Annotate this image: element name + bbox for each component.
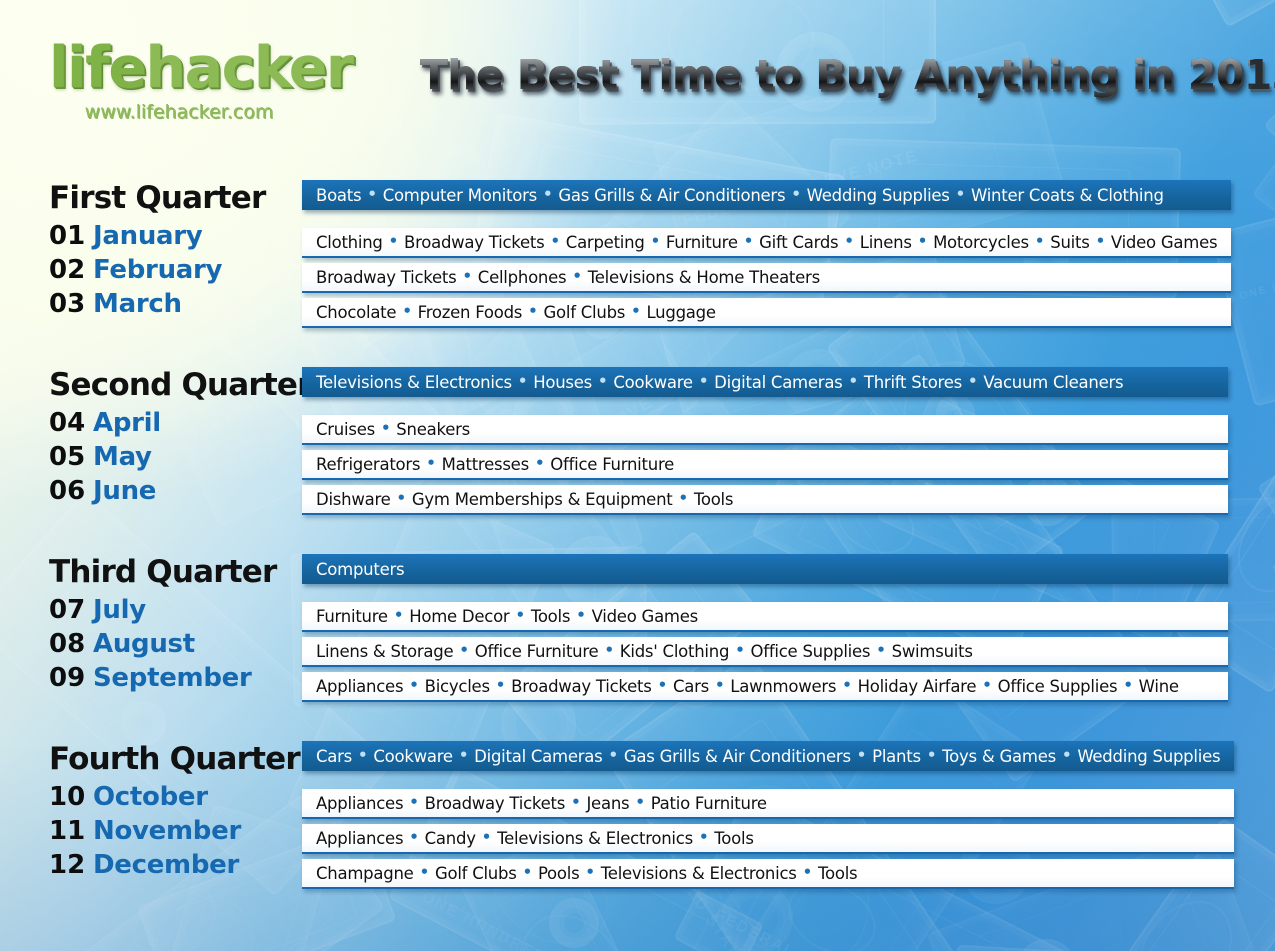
month-name: November [93,818,241,844]
bullet-separator: • [352,746,373,764]
month-entry-april[interactable]: 04April [49,410,302,436]
month-name: April [93,410,161,436]
item-label: Refrigerators [316,455,420,474]
bullet-separator: • [529,454,550,472]
bullet-separator: • [403,676,424,694]
month-number: 01 [49,223,93,249]
bullet-separator: • [570,606,591,624]
item-label: Golf Clubs [543,303,625,322]
month-name: October [93,784,208,810]
item-label: Champagne [316,864,414,883]
bullet-separator: • [388,606,409,624]
item-label: Linens [860,233,912,252]
bullet-separator: • [375,419,396,437]
month-number: 08 [49,631,93,657]
bullet-separator: • [522,302,543,320]
item-label: Motorcycles [933,233,1029,252]
item-label: Furniture [316,607,388,626]
quarter-title: First Quarter [49,182,302,215]
bullet-separator: • [476,828,497,846]
bullet-separator: • [693,372,714,390]
month-entry-september[interactable]: 09September [49,665,302,691]
bullet-separator: • [403,793,424,811]
month-items-row: Broadway Tickets•Cellphones•Televisions … [302,263,1231,293]
month-items-row: Appliances•Candy•Televisions & Electroni… [302,824,1234,854]
bullet-separator: • [414,863,435,881]
item-label: Kids' Clothing [620,642,729,661]
bullet-separator: • [517,863,538,881]
item-label: Video Games [1111,233,1217,252]
bullet-separator: • [566,267,587,285]
bullet-separator: • [544,232,565,250]
quarter-rows: Cars•Cookware•Digital Cameras•Gas Grills… [302,741,1275,894]
item-label: Home Decor [409,607,509,626]
item-label: Mattresses [442,455,529,474]
logo-url: www.lifehacker.com [49,101,309,123]
quarter-rows: Boats•Computer Monitors•Gas Grills & Air… [302,180,1275,333]
month-items-row: Champagne•Golf Clubs•Pools•Televisions &… [302,859,1234,889]
month-entry-november[interactable]: 11November [49,818,302,844]
item-label: Wine [1139,677,1179,696]
quarter-rows: ComputersFurniture•Home Decor•Tools•Vide… [302,554,1275,707]
item-label: Video Games [592,607,698,626]
item-label: Clothing [316,233,383,252]
item-label: Broadway Tickets [316,268,456,287]
month-items-row: Dishware•Gym Memberships & Equipment•Too… [302,485,1228,515]
item-label: Holiday Airfare [858,677,977,696]
month-items-row: Refrigerators•Mattresses•Office Furnitur… [302,450,1228,480]
month-items-row: Chocolate•Frozen Foods•Golf Clubs•Luggag… [302,298,1231,328]
month-items-row: Furniture•Home Decor•Tools•Video Games [302,602,1228,632]
item-label: Gift Cards [759,233,838,252]
logo-word-life: life [49,35,146,101]
month-entry-january[interactable]: 01January [49,223,302,249]
bullet-separator: • [579,863,600,881]
month-number: 05 [49,444,93,470]
quarter-title: Fourth Quarter [49,743,302,776]
item-label: Appliances [316,794,403,813]
item-label: Tools [531,607,570,626]
bullet-separator: • [1117,676,1138,694]
month-number: 04 [49,410,93,436]
bullet-separator: • [453,746,474,764]
bullet-separator: • [361,185,382,203]
bullet-separator: • [420,454,441,472]
bullet-separator: • [453,641,474,659]
item-label: Sneakers [396,420,470,439]
quarter-title: Third Quarter [49,556,302,589]
item-label: Televisions & Electronics [601,864,797,883]
item-label: Cookware [373,747,452,766]
item-label: Tools [694,490,733,509]
bullet-separator: • [950,185,971,203]
bullet-separator: • [738,232,759,250]
item-label: Wedding Supplies [1077,747,1220,766]
logo-wordmark: lifehacker [49,40,309,97]
item-label: Lawnmowers [730,677,836,696]
item-label: Appliances [316,829,403,848]
month-number: 02 [49,257,93,283]
month-entry-july[interactable]: 07July [49,597,302,623]
item-label: Tools [818,864,857,883]
item-label: Luggage [646,303,715,322]
quarters-container: First Quarter01January02February03MarchB… [0,180,1275,928]
item-label: Televisions & Electronics [316,373,512,392]
item-label: Toys & Games [942,747,1056,766]
month-entry-may[interactable]: 05May [49,444,302,470]
month-items-row: Linens & Storage•Office Furniture•Kids' … [302,637,1228,667]
bullet-separator: • [652,676,673,694]
item-label: Digital Cameras [714,373,842,392]
item-label: Pools [538,864,579,883]
bullet-separator: • [512,372,533,390]
month-name: July [93,597,146,623]
item-label: Gas Grills & Air Conditioners [624,747,851,766]
month-name: September [93,665,252,691]
bullet-separator: • [592,372,613,390]
item-label: Suits [1050,233,1089,252]
month-name: December [93,852,239,878]
month-entry-august[interactable]: 08August [49,631,302,657]
month-name: March [93,291,182,317]
item-label: Office Supplies [998,677,1118,696]
logo-word-hacker: hacker [146,35,353,101]
month-number: 06 [49,478,93,504]
lifehacker-logo[interactable]: lifehacker www.lifehacker.com [49,40,309,123]
month-number: 07 [49,597,93,623]
page-title: The Best Time to Buy Anything in 2013 [420,53,1250,98]
month-name: January [93,223,202,249]
item-label: Computer Monitors [383,186,537,205]
quarter-items-row: Cars•Cookware•Digital Cameras•Gas Grills… [302,741,1234,771]
bullet-separator: • [797,863,818,881]
bullet-separator: • [1029,232,1050,250]
item-label: Broadway Tickets [425,794,565,813]
quarter-block: Second Quarter04April05May06JuneTelevisi… [0,367,1275,520]
bullet-separator: • [673,489,694,507]
item-label: Candy [425,829,476,848]
item-label: Televisions & Electronics [497,829,693,848]
month-name: May [93,444,152,470]
item-label: Swimsuits [892,642,973,661]
quarter-block: Fourth Quarter10October11November12Decem… [0,741,1275,894]
item-label: Cruises [316,420,375,439]
item-label: Televisions & Home Theaters [588,268,820,287]
month-number: 09 [49,665,93,691]
quarter-block: Third Quarter07July08August09SeptemberCo… [0,554,1275,707]
item-label: Wedding Supplies [807,186,950,205]
quarter-sidebar: Third Quarter07July08August09September [0,554,302,691]
item-label: Dishware [316,490,391,509]
bullet-separator: • [729,641,750,659]
bullet-separator: • [1056,746,1077,764]
item-label: Broadway Tickets [404,233,544,252]
month-entry-march[interactable]: 03March [49,291,302,317]
bullet-separator: • [537,185,558,203]
item-label: Cars [316,747,352,766]
bullet-separator: • [962,372,983,390]
month-items-row: Cruises•Sneakers [302,415,1228,445]
month-name: August [93,631,195,657]
item-label: Patio Furniture [651,794,767,813]
item-label: Jeans [586,794,629,813]
bullet-separator: • [843,372,864,390]
item-label: Computers [316,560,404,579]
item-label: Vacuum Cleaners [983,373,1123,392]
item-label: Cars [673,677,709,696]
bullet-separator: • [625,302,646,320]
item-label: Office Furniture [550,455,674,474]
item-label: Thrift Stores [864,373,962,392]
bullet-separator: • [1090,232,1111,250]
bullet-separator: • [456,267,477,285]
bullet-separator: • [912,232,933,250]
bullet-separator: • [629,793,650,811]
bullet-separator: • [870,641,891,659]
bullet-separator: • [383,232,404,250]
item-label: Houses [533,373,592,392]
item-label: Office Supplies [751,642,871,661]
bullet-separator: • [603,746,624,764]
quarter-sidebar: First Quarter01January02February03March [0,180,302,317]
item-label: Frozen Foods [418,303,522,322]
bullet-separator: • [709,676,730,694]
quarter-sidebar: Fourth Quarter10October11November12Decem… [0,741,302,878]
bullet-separator: • [509,606,530,624]
item-label: Gas Grills & Air Conditioners [558,186,785,205]
month-number: 03 [49,291,93,317]
month-items-row: Clothing•Broadway Tickets•Carpeting•Furn… [302,228,1231,258]
quarter-sidebar: Second Quarter04April05May06June [0,367,302,504]
bullet-separator: • [851,746,872,764]
quarter-items-row: Televisions & Electronics•Houses•Cookwar… [302,367,1228,397]
month-name: June [93,478,156,504]
item-label: Carpeting [566,233,645,252]
item-label: Golf Clubs [435,864,517,883]
bullet-separator: • [403,828,424,846]
month-name: February [93,257,222,283]
item-label: Broadway Tickets [511,677,651,696]
item-label: Furniture [666,233,738,252]
item-label: Tools [714,829,753,848]
bullet-separator: • [490,676,511,694]
item-label: Chocolate [316,303,396,322]
quarter-title: Second Quarter [49,369,302,402]
month-entry-june[interactable]: 06June [49,478,302,504]
item-label: Digital Cameras [474,747,602,766]
month-number: 10 [49,784,93,810]
quarter-items-row: Boats•Computer Monitors•Gas Grills & Air… [302,180,1231,210]
bullet-separator: • [598,641,619,659]
infographic-poster: THE UNITED STATESTHE UNITED STATES24 335… [0,0,1275,951]
quarter-block: First Quarter01January02February03MarchB… [0,180,1275,333]
item-label: Appliances [316,677,403,696]
bullet-separator: • [836,676,857,694]
month-entry-february[interactable]: 02February [49,257,302,283]
item-label: Cellphones [478,268,567,287]
quarter-items-row: Computers [302,554,1228,584]
month-entry-december[interactable]: 12December [49,852,302,878]
bullet-separator: • [645,232,666,250]
bullet-separator: • [565,793,586,811]
bullet-separator: • [921,746,942,764]
bullet-separator: • [396,302,417,320]
bullet-separator: • [693,828,714,846]
item-label: Linens & Storage [316,642,453,661]
item-label: Office Furniture [475,642,599,661]
item-label: Winter Coats & Clothing [971,186,1164,205]
month-number: 11 [49,818,93,844]
item-label: Gym Memberships & Equipment [412,490,673,509]
bullet-separator: • [976,676,997,694]
bullet-separator: • [391,489,412,507]
item-label: Boats [316,186,361,205]
month-number: 12 [49,852,93,878]
month-entry-october[interactable]: 10October [49,784,302,810]
bullet-separator: • [785,185,806,203]
quarter-rows: Televisions & Electronics•Houses•Cookwar… [302,367,1275,520]
item-label: Plants [872,747,921,766]
bullet-separator: • [838,232,859,250]
month-items-row: Appliances•Bicycles•Broadway Tickets•Car… [302,672,1228,702]
item-label: Bicycles [425,677,490,696]
item-label: Cookware [613,373,692,392]
month-items-row: Appliances•Broadway Tickets•Jeans•Patio … [302,789,1234,819]
